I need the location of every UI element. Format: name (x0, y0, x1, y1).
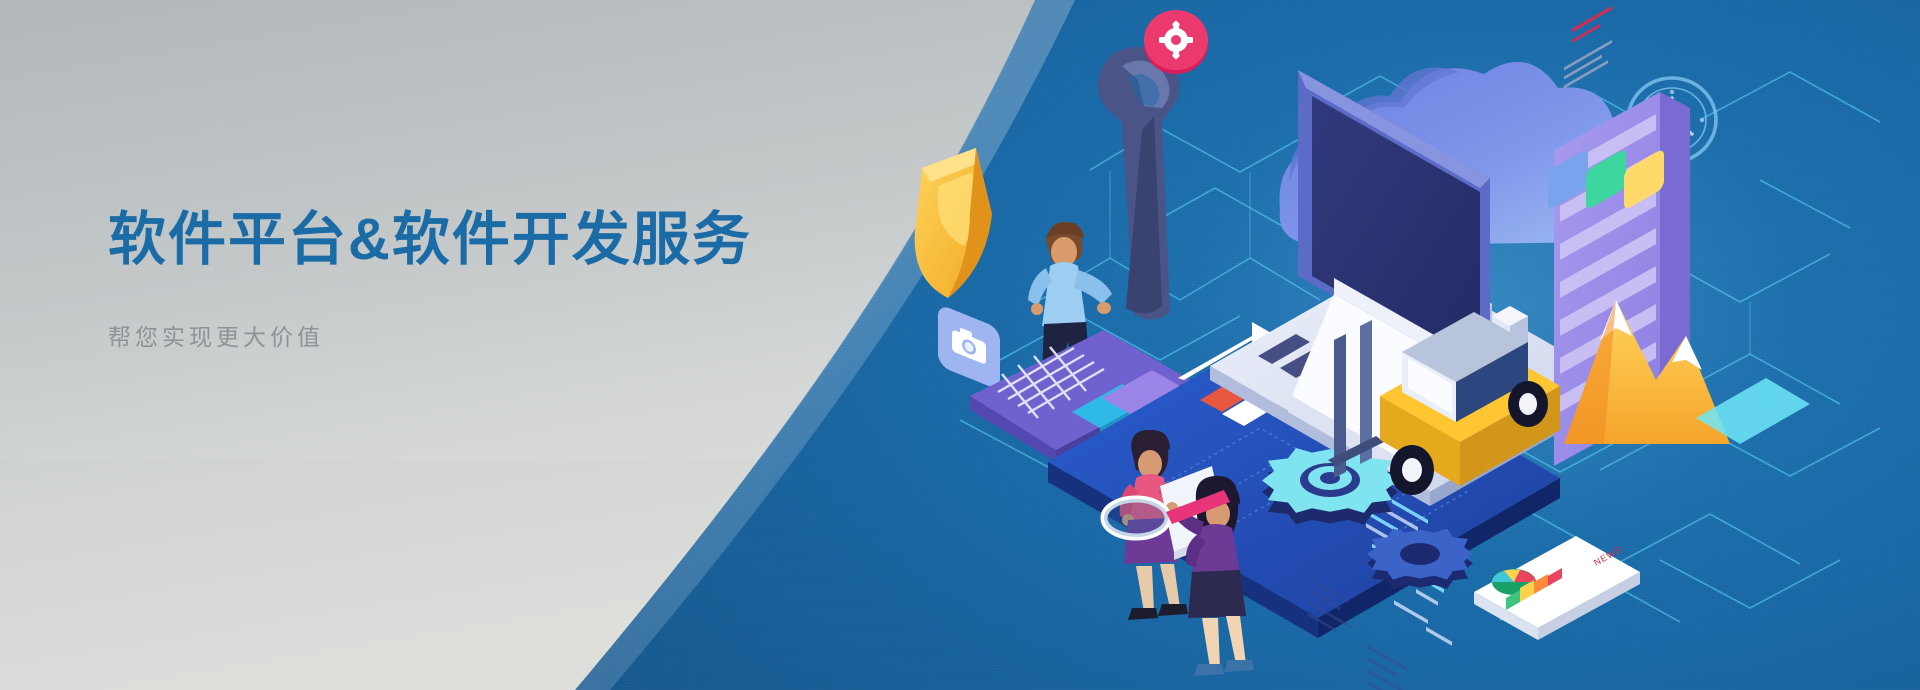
page-subtitle: 帮您实现更大价值 (108, 318, 868, 352)
hero-banner: 软件平台&软件开发服务 帮您实现更大价值 (0, 0, 1920, 690)
shield-icon (915, 148, 992, 298)
hero-copy: 软件平台&软件开发服务 帮您实现更大价值 (108, 206, 868, 352)
gear-badge-icon (1144, 10, 1208, 74)
hero-illustration: NEWS (860, 0, 1920, 690)
camera-icon (938, 304, 1000, 391)
wrench-icon (1098, 47, 1180, 320)
page-title: 软件平台&软件开发服务 (108, 206, 868, 274)
